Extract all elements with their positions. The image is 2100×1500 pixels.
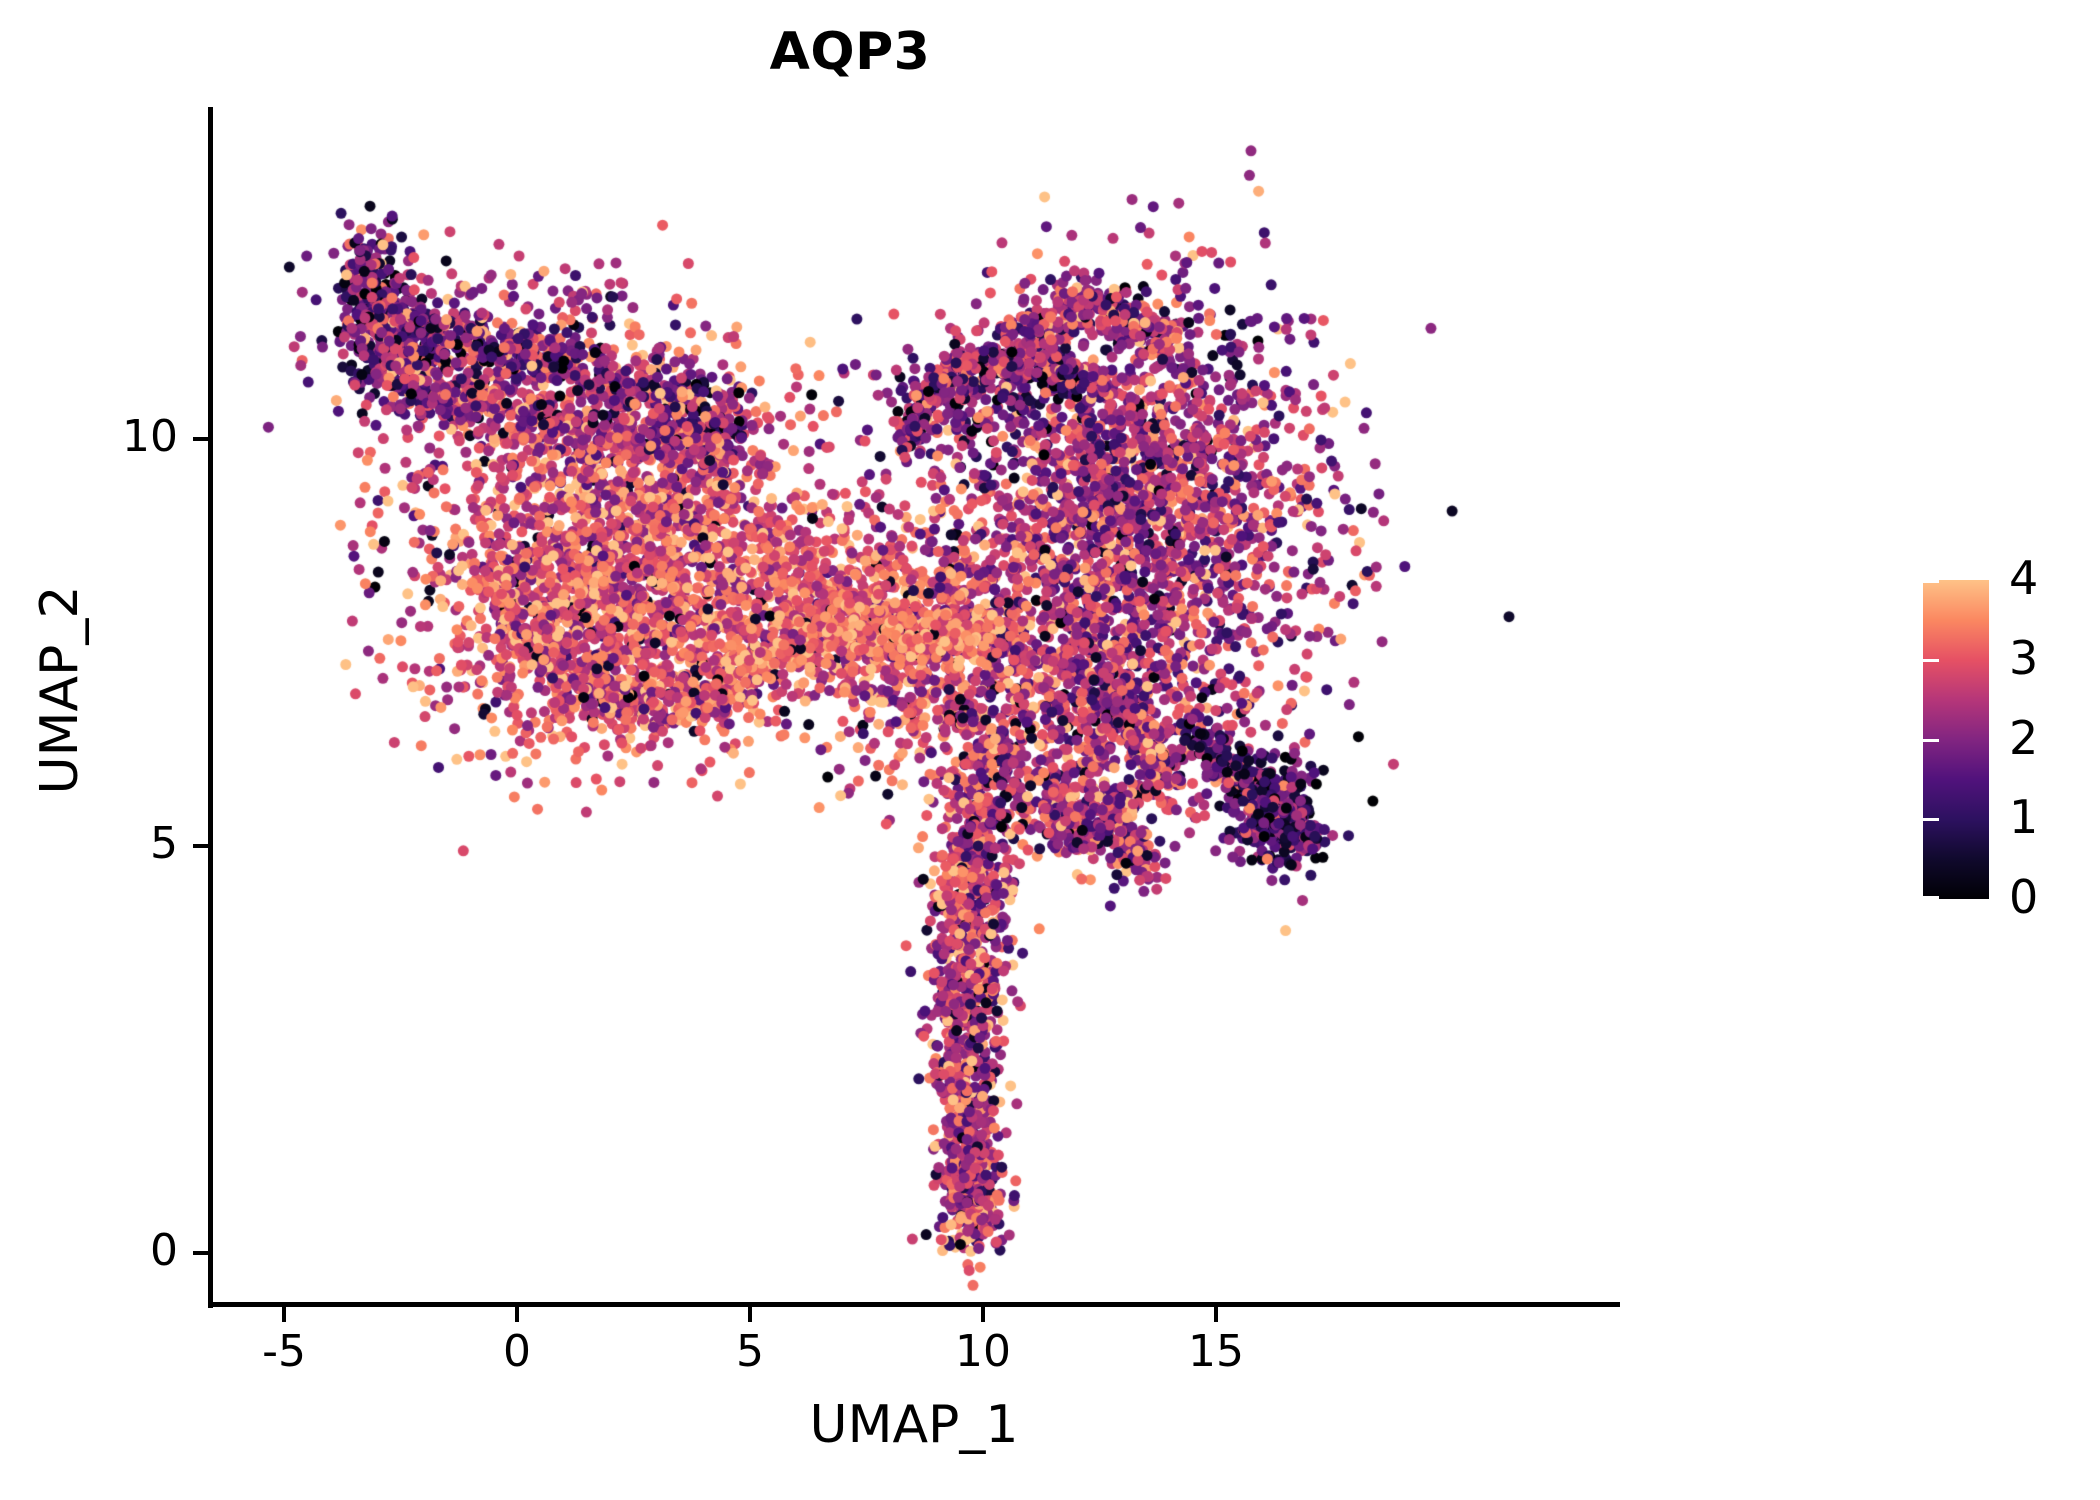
- colorbar-label: 1: [2009, 794, 2038, 840]
- colorbar-tick-2: [1907, 739, 1923, 742]
- colorbar-tick-1: [1923, 818, 1939, 821]
- x-axis-line: [208, 1302, 1620, 1307]
- x-tick--5: [282, 1307, 286, 1322]
- y-axis-line: [208, 107, 213, 1308]
- x-tick-5: [748, 1307, 752, 1322]
- scatter-canvas: [0, 0, 2100, 1500]
- colorbar-label: 4: [2009, 555, 2038, 601]
- x-tick-label: 0: [437, 1330, 597, 1374]
- colorbar-tick-2: [1923, 739, 1939, 742]
- colorbar-tick-4: [1907, 580, 1923, 583]
- y-axis-title: UMAP_2: [30, 370, 90, 1010]
- colorbar-tick-3: [1923, 659, 1939, 662]
- y-tick-label: 10: [122, 415, 178, 459]
- x-tick-label: -5: [204, 1330, 364, 1374]
- y-tick-5: [193, 844, 208, 848]
- colorbar-label: 3: [2009, 635, 2038, 681]
- y-tick-label: 5: [150, 822, 178, 866]
- x-tick-label: 10: [903, 1330, 1063, 1374]
- y-tick-label: 0: [150, 1229, 178, 1273]
- colorbar-label: 0: [2009, 874, 2038, 920]
- umap-feature-plot: AQP3 0510-5051015 UMAP_1 UMAP_2 01234: [0, 0, 2100, 1500]
- x-tick-label: 5: [670, 1330, 830, 1374]
- x-tick-label: 15: [1136, 1330, 1296, 1374]
- x-tick-0: [515, 1307, 519, 1322]
- colorbar-tick-3: [1907, 659, 1923, 662]
- colorbar-tick-0: [1923, 896, 1939, 899]
- y-tick-0: [193, 1251, 208, 1255]
- x-tick-10: [981, 1307, 985, 1322]
- x-axis-title: UMAP_1: [208, 1395, 1620, 1455]
- colorbar-tick-1: [1907, 818, 1923, 821]
- colorbar-label: 2: [2009, 715, 2038, 761]
- y-tick-10: [193, 437, 208, 441]
- scatter-plot-area: [0, 0, 2100, 1500]
- colorbar-tick-4: [1923, 580, 1939, 583]
- colorbar-tick-0: [1907, 896, 1923, 899]
- x-tick-15: [1214, 1307, 1218, 1322]
